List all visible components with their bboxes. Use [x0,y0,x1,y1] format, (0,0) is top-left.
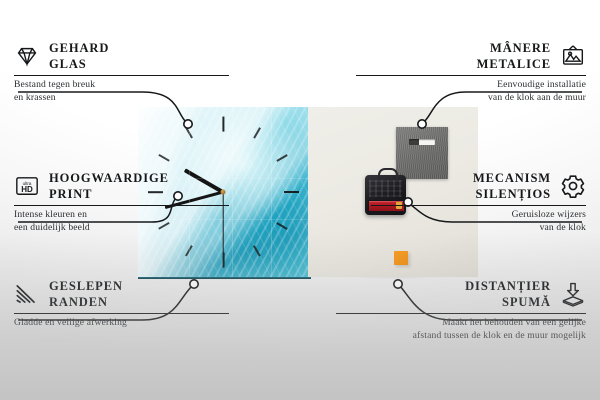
hanger-keyhole-slot [409,139,435,145]
beveled-edges-icon [14,281,40,307]
callout-header: ultra HD HOOGWAARDIGE PRINT [14,170,229,202]
callout-header: GEHARD GLAS [14,40,229,72]
callout-subtitle: Bestand tegen breuk en krassen [14,79,229,104]
clock-tick [222,116,224,131]
callout-rule [14,75,229,76]
callout-header: MECANISM SILENȚIOS [371,170,586,202]
glass-seam [271,107,272,277]
callout-rule [356,75,586,76]
clock-center-cap [221,190,226,195]
callout-mecanism-silentios: MECANISM SILENȚIOS Geruisloze wijzers va… [371,170,586,235]
callout-gehard-glas: GEHARD GLAS Bestand tegen breuk en krass… [14,40,229,105]
callout-header: GESLEPEN RANDEN [14,278,229,310]
gear-icon [560,173,586,199]
picture-hanger-icon [560,43,586,69]
spacer-press-icon [560,281,586,307]
callout-rule [14,313,229,314]
foam-spacer [394,251,408,265]
glass-seam [232,107,233,277]
callout-title: GEHARD GLAS [49,40,109,72]
callout-hoogwaardige-print: ultra HD HOOGWAARDIGE PRINT Intense kleu… [14,170,229,235]
callout-header: DISTANȚIER SPUMĂ [336,278,586,310]
callout-distantier-spuma: DISTANȚIER SPUMĂ Maakt het behouden van … [336,278,586,343]
callout-manere-metalice: MÂNERE METALICE Eenvoudige installatie v… [356,40,586,105]
svg-text:HD: HD [21,185,33,194]
callout-rule [371,205,586,206]
callout-subtitle: Geruisloze wijzers van de klok [371,209,586,234]
callout-subtitle: Eenvoudige installatie van de klok aan d… [356,79,586,104]
callout-title: MECANISM SILENȚIOS [473,170,551,202]
infographic-canvas: GEHARD GLAS Bestand tegen breuk en krass… [0,0,600,400]
callout-subtitle: Intense kleuren en een duidelijk beeld [14,209,229,234]
callout-rule [14,205,229,206]
callout-title: HOOGWAARDIGE PRINT [49,170,169,202]
diamond-icon [14,43,40,69]
callout-title: DISTANȚIER SPUMĂ [465,278,551,310]
clock-tick [284,191,299,193]
callout-subtitle: Gladde en veilige afwerking [14,317,229,330]
callout-title: GESLEPEN RANDEN [49,278,123,310]
ultra-hd-icon: ultra HD [14,173,40,199]
callout-title: MÂNERE METALICE [477,40,551,72]
callout-geslepen-randen: GESLEPEN RANDEN Gladde en veilige afwerk… [14,278,229,330]
callout-rule [336,313,586,314]
clock-tick [222,252,224,267]
callout-subtitle: Maakt het behouden van een gelijke afsta… [336,317,586,342]
callout-header: MÂNERE METALICE [356,40,586,72]
